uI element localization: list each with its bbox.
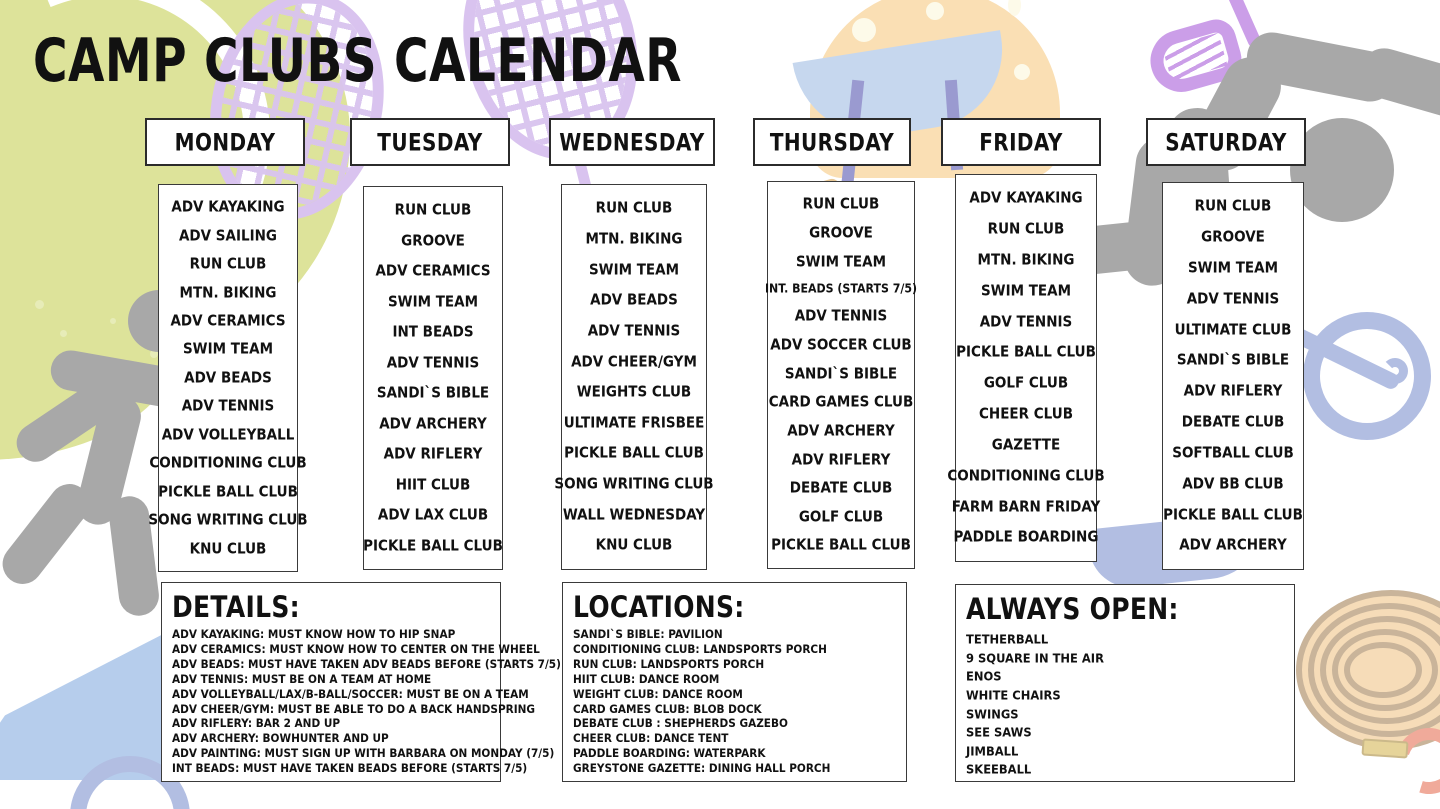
- club-list-friday: ADV KAYAKING RUN CLUB MTN. BIKING SWIM T…: [955, 174, 1097, 562]
- club-item[interactable]: ADV TENNIS: [387, 355, 480, 371]
- club-item[interactable]: ADV CHEER/GYM: [571, 354, 697, 370]
- club-item[interactable]: SWIM TEAM: [981, 283, 1071, 299]
- club-item[interactable]: PICKLE BALL CLUB: [1163, 507, 1303, 523]
- club-item[interactable]: CARD GAMES CLUB: [769, 394, 914, 410]
- day-header-saturday[interactable]: SATURDAY: [1146, 118, 1306, 166]
- club-item[interactable]: ADV RIFLERY: [384, 446, 483, 462]
- club-item[interactable]: ADV SOCCER CLUB: [770, 337, 911, 353]
- climbing-rope-icon: [1296, 590, 1440, 780]
- club-item[interactable]: RUN CLUB: [395, 202, 472, 218]
- details-heading: DETAILS:: [172, 590, 490, 624]
- details-item: INT BEADS: MUST HAVE TAKEN BEADS BEFORE …: [172, 762, 490, 778]
- always-open-item: WHITE CHAIRS: [966, 685, 1284, 705]
- club-item[interactable]: SONG WRITING CLUB: [148, 512, 307, 528]
- club-item[interactable]: PICKLE BALL CLUB: [158, 484, 298, 500]
- club-item[interactable]: SONG WRITING CLUB: [554, 476, 713, 492]
- club-item[interactable]: ADV CERAMICS: [375, 263, 490, 279]
- club-list-saturday: RUN CLUB GROOVE SWIM TEAM ADV TENNIS ULT…: [1162, 182, 1304, 570]
- club-item[interactable]: PADDLE BOARDING: [954, 530, 1099, 546]
- club-item[interactable]: CONDITIONING CLUB: [947, 468, 1104, 484]
- club-item[interactable]: ADV SAILING: [179, 228, 277, 244]
- day-header-wednesday[interactable]: WEDNESDAY: [549, 118, 715, 166]
- carabiner-icon: [1384, 716, 1440, 805]
- club-item[interactable]: PICKLE BALL CLUB: [363, 538, 503, 554]
- details-item: ADV PAINTING: MUST SIGN UP WITH BARBARA …: [172, 747, 490, 763]
- club-item[interactable]: CONDITIONING CLUB: [149, 456, 306, 472]
- day-column-thursday: THURSDAY RUN CLUB GROOVE SWIM TEAM INT. …: [753, 118, 911, 569]
- club-item[interactable]: ADV RIFLERY: [1184, 384, 1283, 400]
- club-item[interactable]: GOLF CLUB: [799, 509, 883, 525]
- day-header-friday[interactable]: FRIDAY: [941, 118, 1101, 166]
- club-item[interactable]: KNU CLUB: [190, 541, 267, 557]
- club-item[interactable]: GOLF CLUB: [984, 376, 1068, 392]
- club-item[interactable]: ADV TENNIS: [182, 399, 275, 415]
- calendar-poster: CAMP CLUBS CALENDAR MONDAY ADV KAYAKING …: [0, 0, 1440, 809]
- always-open-item: SEE SAWS: [966, 722, 1284, 742]
- speckle-dot-icon: [110, 318, 116, 324]
- bicycle-wheel-icon: [1303, 312, 1431, 440]
- club-list-tuesday: RUN CLUB GROOVE ADV CERAMICS SWIM TEAM I…: [363, 186, 503, 570]
- club-list-wednesday: RUN CLUB MTN. BIKING SWIM TEAM ADV BEADS…: [561, 184, 707, 570]
- club-item[interactable]: SWIM TEAM: [183, 342, 273, 358]
- club-item[interactable]: ULTIMATE CLUB: [1175, 322, 1292, 338]
- always-open-heading: ALWAYS OPEN:: [966, 592, 1284, 626]
- club-item[interactable]: DEBATE CLUB: [1182, 414, 1285, 430]
- day-header-tuesday[interactable]: TUESDAY: [350, 118, 510, 166]
- details-list: ADV KAYAKING: MUST KNOW HOW TO HIP SNAP …: [172, 628, 490, 777]
- day-header-thursday[interactable]: THURSDAY: [753, 118, 911, 166]
- club-item[interactable]: PICKLE BALL CLUB: [956, 345, 1096, 361]
- club-item[interactable]: SWIM TEAM: [589, 262, 679, 278]
- locations-item: GREYSTONE GAZETTE: DINING HALL PORCH: [573, 762, 896, 778]
- day-header-label: SATURDAY: [1165, 128, 1286, 156]
- day-header-label: TUESDAY: [377, 128, 482, 156]
- always-open-item: TETHERBALL: [966, 629, 1284, 649]
- club-item[interactable]: ADV VOLLEYBALL: [162, 427, 295, 443]
- club-item[interactable]: ADV CERAMICS: [170, 313, 285, 329]
- club-item[interactable]: SWIM TEAM: [388, 294, 478, 310]
- club-item[interactable]: ADV TENNIS: [588, 323, 681, 339]
- club-item[interactable]: ADV BB CLUB: [1182, 476, 1283, 492]
- details-box: DETAILS: ADV KAYAKING: MUST KNOW HOW TO …: [161, 582, 501, 782]
- day-header-label: MONDAY: [175, 128, 276, 156]
- club-item[interactable]: SWIM TEAM: [1188, 260, 1278, 276]
- club-item[interactable]: DEBATE CLUB: [790, 480, 893, 496]
- always-open-list: TETHERBALL 9 SQUARE IN THE AIR ENOS WHIT…: [966, 630, 1284, 779]
- locations-item: RUN CLUB: LANDSPORTS PORCH: [573, 657, 896, 673]
- day-header-label: WEDNESDAY: [559, 128, 704, 156]
- club-item[interactable]: RUN CLUB: [596, 201, 673, 217]
- club-item[interactable]: PICKLE BALL CLUB: [564, 446, 704, 462]
- carabiner-gate-icon: [1361, 738, 1408, 758]
- club-item[interactable]: SWIM TEAM: [796, 254, 886, 270]
- details-item: ADV BEADS: MUST HAVE TAKEN ADV BEADS BEF…: [172, 657, 490, 673]
- always-open-item: SWINGS: [966, 704, 1284, 724]
- always-open-item: ENOS: [966, 667, 1284, 687]
- club-item[interactable]: ULTIMATE FRISBEE: [564, 415, 705, 431]
- club-item[interactable]: SANDI`S BIBLE: [785, 366, 897, 382]
- details-item: ADV KAYAKING: MUST KNOW HOW TO HIP SNAP: [172, 627, 490, 643]
- speckle-dot-icon: [60, 330, 67, 337]
- club-item[interactable]: ADV ARCHERY: [1179, 538, 1287, 554]
- club-item[interactable]: WALL WEDNESDAY: [563, 507, 705, 523]
- locations-item: CONDITIONING CLUB: LANDSPORTS PORCH: [573, 642, 896, 658]
- club-item[interactable]: ADV TENNIS: [980, 314, 1073, 330]
- club-item[interactable]: SOFTBALL CLUB: [1172, 445, 1294, 461]
- club-item[interactable]: ADV BEADS: [184, 370, 272, 386]
- club-item[interactable]: GROOVE: [809, 225, 873, 241]
- club-item[interactable]: ADV KAYAKING: [969, 191, 1082, 207]
- club-item[interactable]: RUN CLUB: [803, 197, 880, 213]
- club-item[interactable]: SANDI`S BIBLE: [1177, 353, 1289, 369]
- bicycle-hub-icon: [1382, 358, 1408, 384]
- day-column-monday: MONDAY ADV KAYAKING ADV SAILING RUN CLUB…: [145, 118, 305, 572]
- locations-item: WEIGHT CLUB: DANCE ROOM: [573, 687, 896, 703]
- details-item: ADV TENNIS: MUST BE ON A TEAM AT HOME: [172, 672, 490, 688]
- day-column-wednesday: WEDNESDAY RUN CLUB MTN. BIKING SWIM TEAM…: [549, 118, 715, 570]
- club-item[interactable]: GAZETTE: [992, 437, 1061, 453]
- day-column-friday: FRIDAY ADV KAYAKING RUN CLUB MTN. BIKING…: [941, 118, 1101, 562]
- club-item[interactable]: RUN CLUB: [988, 221, 1065, 237]
- always-open-item: JIMBALL: [966, 741, 1284, 761]
- club-item[interactable]: ADV LAX CLUB: [378, 507, 488, 523]
- speckle-dot-icon: [35, 300, 44, 309]
- club-list-monday: ADV KAYAKING ADV SAILING RUN CLUB MTN. B…: [158, 184, 298, 572]
- club-item[interactable]: HIIT CLUB: [396, 477, 471, 493]
- club-item[interactable]: INT BEADS: [392, 324, 473, 340]
- always-open-item: 9 SQUARE IN THE AIR: [966, 648, 1284, 668]
- club-item[interactable]: ADV ARCHERY: [379, 416, 487, 432]
- locations-heading: LOCATIONS:: [573, 590, 896, 624]
- club-item[interactable]: MTN. BIKING: [586, 231, 683, 247]
- club-item[interactable]: ADV BEADS: [590, 292, 678, 308]
- club-item[interactable]: CHEER CLUB: [979, 406, 1073, 422]
- day-column-saturday: SATURDAY RUN CLUB GROOVE SWIM TEAM ADV T…: [1146, 118, 1306, 570]
- club-list-thursday: RUN CLUB GROOVE SWIM TEAM INT. BEADS (ST…: [767, 181, 915, 569]
- club-item[interactable]: KNU CLUB: [596, 538, 673, 554]
- club-item[interactable]: ADV TENNIS: [1187, 291, 1280, 307]
- club-item[interactable]: ADV KAYAKING: [171, 199, 284, 215]
- club-item[interactable]: WEIGHTS CLUB: [577, 384, 691, 400]
- club-item[interactable]: RUN CLUB: [1195, 199, 1272, 215]
- details-item: ADV CERAMICS: MUST KNOW HOW TO CENTER ON…: [172, 642, 490, 658]
- locations-item: HIIT CLUB: DANCE ROOM: [573, 672, 896, 688]
- club-item[interactable]: ADV TENNIS: [795, 309, 888, 325]
- club-item[interactable]: GROOVE: [401, 233, 465, 249]
- club-item[interactable]: MTN. BIKING: [978, 252, 1075, 268]
- day-header-monday[interactable]: MONDAY: [145, 118, 305, 166]
- club-item[interactable]: RUN CLUB: [190, 256, 267, 272]
- day-header-label: THURSDAY: [770, 128, 894, 156]
- locations-item: SANDI`S BIBLE: PAVILION: [573, 627, 896, 643]
- locations-box: LOCATIONS: SANDI`S BIBLE: PAVILION CONDI…: [562, 582, 907, 782]
- locations-item: PADDLE BOARDING: WATERPARK: [573, 747, 896, 763]
- always-open-box: ALWAYS OPEN: TETHERBALL 9 SQUARE IN THE …: [955, 584, 1295, 782]
- club-item[interactable]: INT. BEADS (STARTS 7/5): [765, 283, 917, 296]
- club-item[interactable]: GROOVE: [1201, 229, 1265, 245]
- club-item[interactable]: PICKLE BALL CLUB: [771, 538, 911, 554]
- club-item[interactable]: SANDI`S BIBLE: [377, 385, 489, 401]
- always-open-item: SKEEBALL: [966, 760, 1284, 780]
- day-column-tuesday: TUESDAY RUN CLUB GROOVE ADV CERAMICS SWI…: [350, 118, 510, 570]
- day-header-label: FRIDAY: [979, 128, 1063, 156]
- details-item: ADV VOLLEYBALL/LAX/B-BALL/SOCCER: MUST B…: [172, 687, 490, 703]
- locations-list: SANDI`S BIBLE: PAVILION CONDITIONING CLU…: [573, 628, 896, 777]
- club-item[interactable]: FARM BARN FRIDAY: [952, 499, 1101, 515]
- club-item[interactable]: MTN. BIKING: [180, 285, 277, 301]
- club-item[interactable]: ADV RIFLERY: [792, 452, 891, 468]
- club-item[interactable]: ADV ARCHERY: [787, 423, 895, 439]
- page-title: CAMP CLUBS CALENDAR: [33, 26, 682, 96]
